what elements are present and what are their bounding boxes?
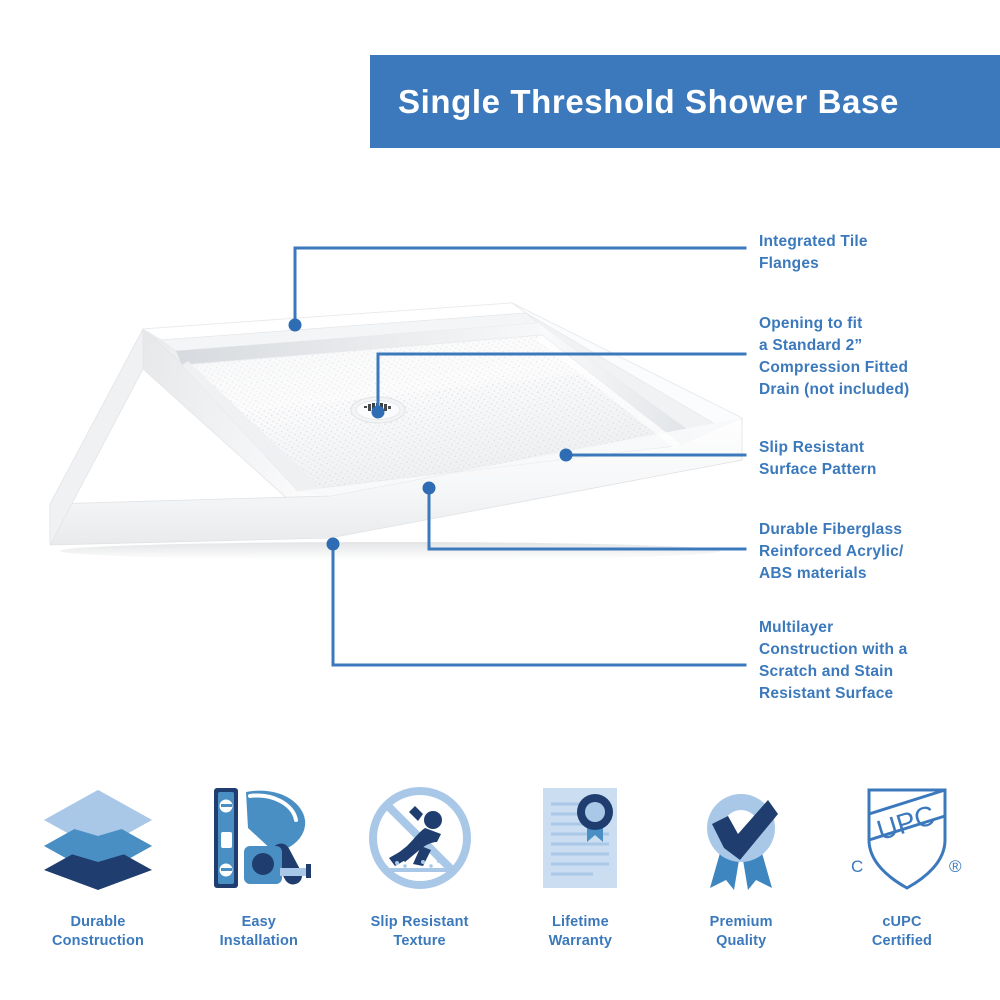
feature-label-line: Warranty [549,932,613,951]
feature-label-line: Premium [710,913,773,932]
feature-label: cUPC Certified [872,913,932,951]
callout-line: Opening to fit [759,313,994,335]
drain-opening-graphic [351,397,405,423]
feature-lifetime-warranty: Lifetime Warranty [504,775,656,951]
feature-label: Easy Installation [220,913,298,951]
callout-line: Slip Resistant [759,437,994,459]
upc-shield-icon: UPC C ® [839,775,964,905]
feature-durable-construction: Durable Construction [22,775,174,951]
feature-label-line: Installation [220,932,298,951]
callout-line: Resistant Surface [759,683,994,705]
layers-icon [39,775,157,905]
callout-line: Drain (not included) [759,379,994,401]
feature-label-line: Durable [52,913,144,932]
callout-line: Durable Fiberglass [759,519,994,541]
feature-slip-resistant-texture: Slip Resistant Texture [344,775,496,951]
level-trowel-icon [200,775,318,905]
callout-line: Reinforced Acrylic/ [759,541,994,563]
callout-durable-materials: Durable Fiberglass Reinforced Acrylic/ A… [759,519,994,585]
callout-line: Scratch and Stain [759,661,994,683]
feature-label: Durable Construction [52,913,144,951]
callout-line: Compression Fitted [759,357,994,379]
feature-label-line: Certified [872,932,932,951]
feature-label: Premium Quality [710,913,773,951]
callout-line: Flanges [759,253,994,275]
feature-label: Lifetime Warranty [549,913,613,951]
feature-label-line: cUPC [872,913,932,932]
callout-line: Surface Pattern [759,459,994,481]
callout-line: ABS materials [759,563,994,585]
feature-label-line: Slip Resistant [371,913,469,932]
check-ribbon-icon [682,775,800,905]
feature-label: Slip Resistant Texture [371,913,469,951]
feature-cupc-certified: UPC C ® cUPC Certified [826,775,978,951]
callout-integrated-tile-flanges: Integrated Tile Flanges [759,231,994,275]
upc-shield-text: UPC [874,799,940,846]
callout-line: Multilayer [759,617,994,639]
feature-label-line: Quality [710,932,773,951]
title-banner: Single Threshold Shower Base [370,55,1000,148]
callout-multilayer-construction: Multilayer Construction with a Scratch a… [759,617,994,705]
feature-premium-quality: Premium Quality [665,775,817,951]
upc-right-mark: ® [949,857,962,876]
callout-line: a Standard 2” [759,335,994,357]
callout-line: Integrated Tile [759,231,994,253]
shower-base-drawing [30,295,750,560]
feature-label-line: Texture [371,932,469,951]
feature-strip: Durable Construction [0,775,1000,1000]
upc-left-mark: C [851,857,863,876]
callout-slip-resistant-surface: Slip Resistant Surface Pattern [759,437,994,481]
page-title: Single Threshold Shower Base [398,83,899,121]
leader-multilayer [333,545,745,665]
callout-line: Construction with a [759,639,994,661]
feature-label-line: Easy [220,913,298,932]
feature-label-line: Lifetime [549,913,613,932]
product-illustration [30,295,750,560]
feature-label-line: Construction [52,932,144,951]
no-slip-icon [361,775,479,905]
feature-easy-installation: Easy Installation [183,775,335,951]
callout-drain-opening: Opening to fit a Standard 2” Compression… [759,313,994,401]
certificate-icon [521,775,639,905]
infographic-canvas: Single Threshold Shower Base [0,0,1000,1000]
